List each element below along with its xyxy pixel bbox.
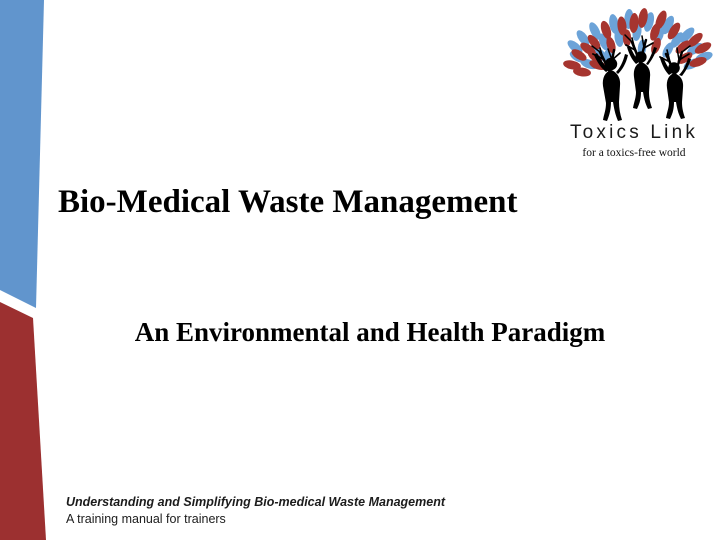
red-angled-shape: [0, 302, 46, 540]
slide-canvas: Toxics Link for a toxics-free world Bio-…: [0, 0, 720, 540]
page-title: Bio-Medical Waste Management: [58, 182, 658, 222]
footer: Understanding and Simplifying Bio-medica…: [66, 494, 626, 528]
figure-right: [660, 57, 691, 119]
logo-tagline: for a toxics-free world: [548, 147, 720, 159]
toxics-link-tree-figures-icon: [548, 2, 720, 124]
decorative-side-shapes: [0, 0, 120, 540]
page-subtitle: An Environmental and Health Paradigm: [120, 312, 620, 353]
footer-subtitle: A training manual for trainers: [66, 511, 626, 528]
figure-left: [594, 53, 628, 121]
blue-angled-shape: [0, 0, 44, 308]
footer-book-title: Understanding and Simplifying Bio-medica…: [66, 494, 626, 511]
logo-wordmark: Toxics Link: [548, 122, 720, 144]
figure-middle: [627, 46, 657, 109]
toxics-link-logo: Toxics Link for a toxics-free world: [548, 2, 720, 170]
